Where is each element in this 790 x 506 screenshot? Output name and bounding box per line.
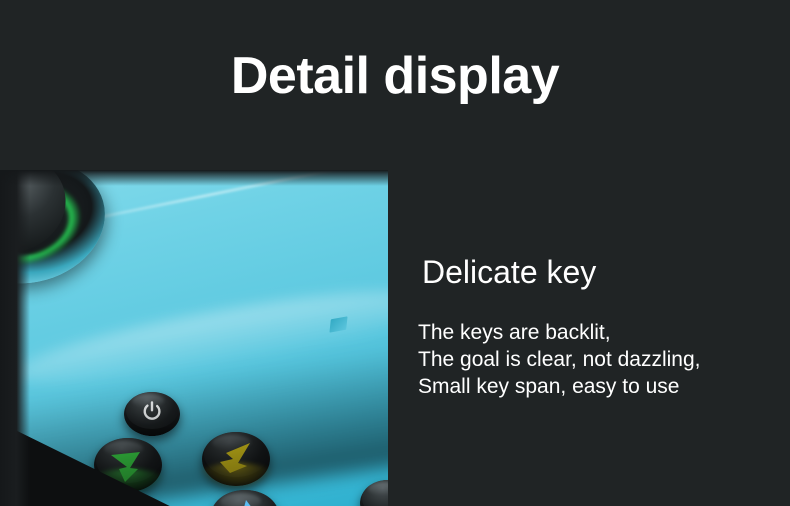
product-photo xyxy=(0,170,388,506)
feature-line-3: Small key span, easy to use xyxy=(418,374,701,401)
slide-root: Detail display xyxy=(0,0,790,506)
feature-description: The keys are backlit, The goal is clear,… xyxy=(418,320,701,401)
photo-top-vignette xyxy=(0,170,388,186)
photo-left-vignette xyxy=(0,170,30,506)
feature-heading: Delicate key xyxy=(422,255,596,290)
feature-line-2: The goal is clear, not dazzling, xyxy=(418,347,701,374)
feature-line-1: The keys are backlit, xyxy=(418,320,701,347)
page-title: Detail display xyxy=(0,50,790,102)
